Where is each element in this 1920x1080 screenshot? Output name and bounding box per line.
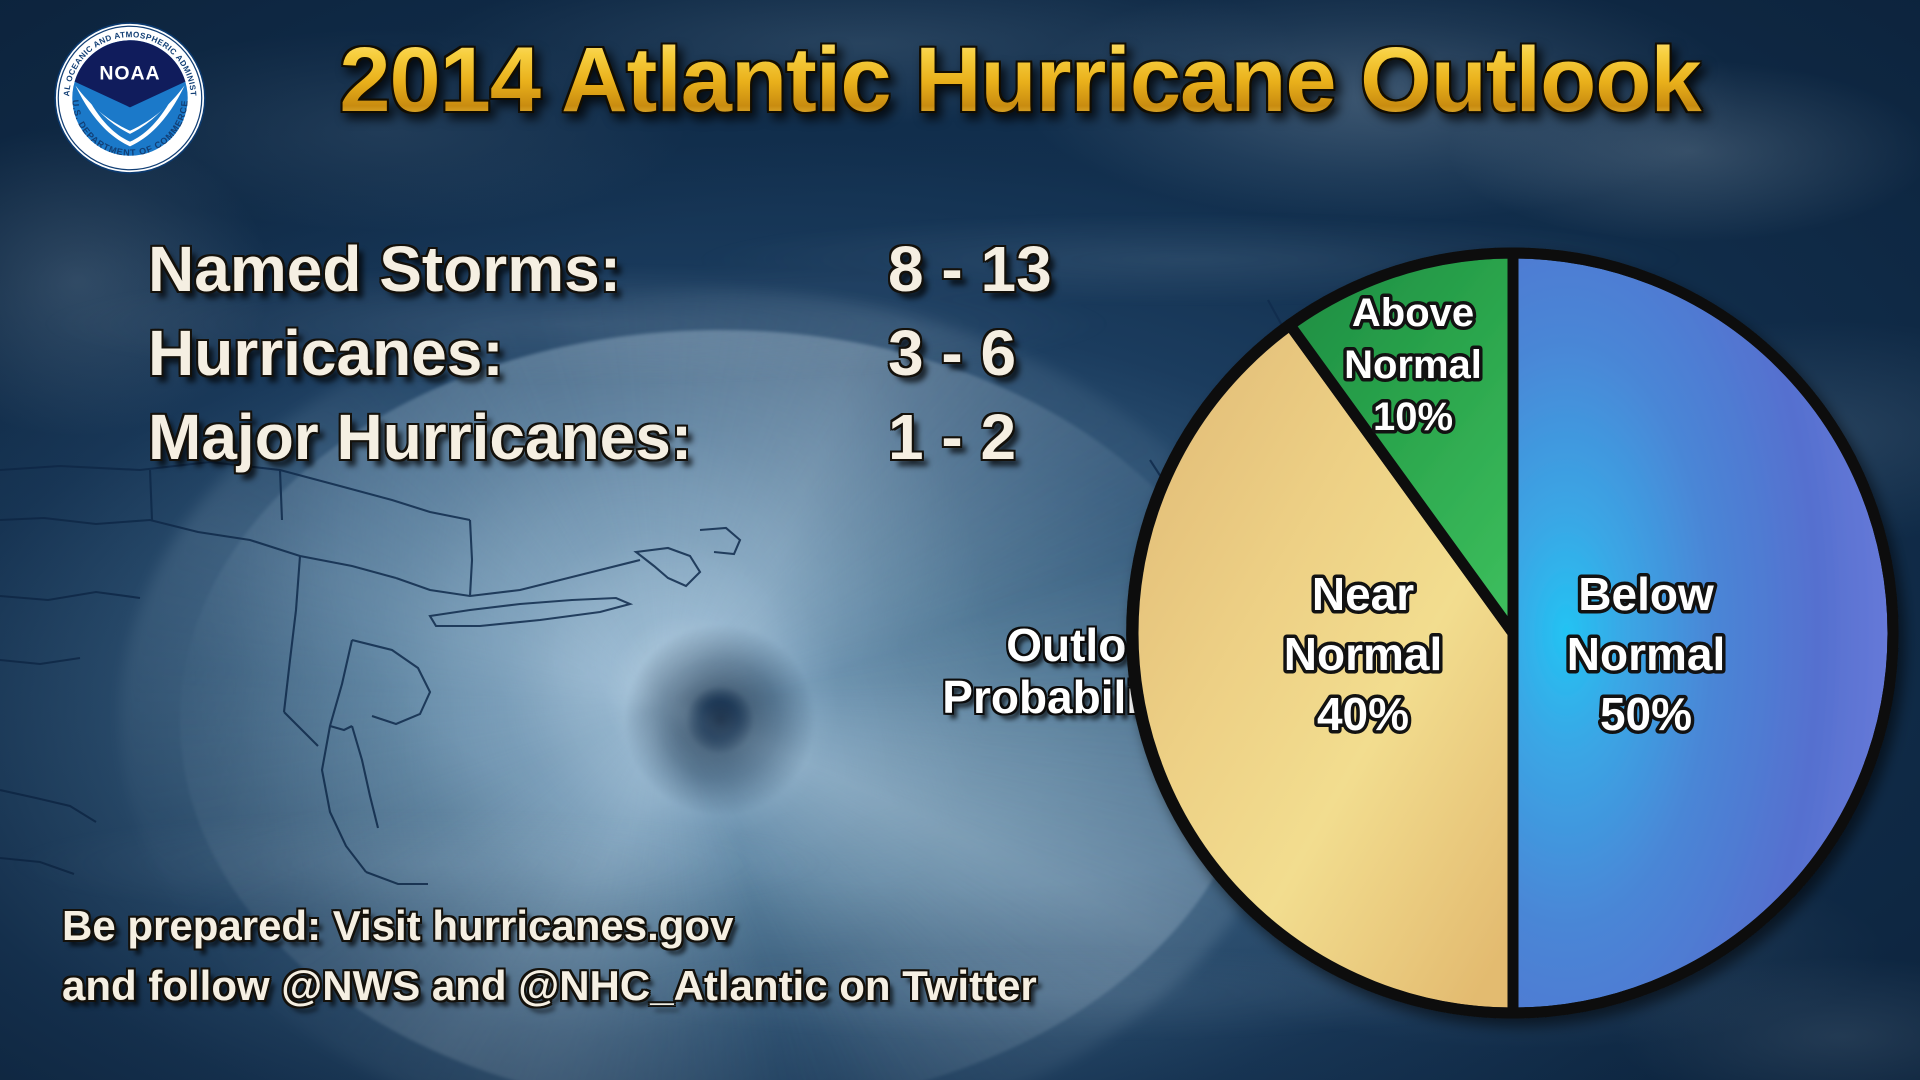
footer-line-2: and follow @NWS and @NHC_Atlantic on Twi… <box>62 956 1037 1016</box>
pie-label-above-normal-line2: Normal <box>1344 343 1482 387</box>
stat-value-named-storms: 8 - 13 <box>888 236 1052 304</box>
pie-label-below-normal-line1: Below <box>1578 568 1714 620</box>
stat-label-named-storms: Named Storms: <box>148 236 888 304</box>
stat-value-hurricanes: 3 - 6 <box>888 320 1052 388</box>
stat-label-major-hurricanes: Major Hurricanes: <box>148 404 888 472</box>
page-title: 2014 Atlantic Hurricane Outlook <box>0 34 1920 126</box>
footer-message: Be prepared: Visit hurricanes.gov and fo… <box>62 896 1037 1015</box>
stat-value-major-hurricanes: 1 - 2 <box>888 404 1052 472</box>
pie-label-below-normal-value: 50% <box>1600 688 1692 740</box>
pie-label-near-normal-line1: Near <box>1312 568 1414 620</box>
pie-label-near-normal-value: 40% <box>1317 688 1409 740</box>
pie-label-near-normal-line2: Normal <box>1284 628 1442 680</box>
pie-label-below-normal-line2: Normal <box>1567 628 1725 680</box>
outlook-probability-pie-chart: Above Normal 10% Near Normal 40% Below N… <box>1118 238 1908 1028</box>
forecast-numbers-table: Named Storms: 8 - 13 Hurricanes: 3 - 6 M… <box>148 236 1052 471</box>
pie-label-above-normal-value: 10% <box>1373 395 1453 439</box>
hurricane-outlook-graphic: NOAA NATIONAL OCEANIC AND ATMOSPHERIC AD… <box>0 0 1920 1080</box>
footer-line-1: Be prepared: Visit hurricanes.gov <box>62 896 1037 956</box>
stat-label-hurricanes: Hurricanes: <box>148 320 888 388</box>
pie-label-above-normal-line1: Above <box>1352 291 1474 335</box>
